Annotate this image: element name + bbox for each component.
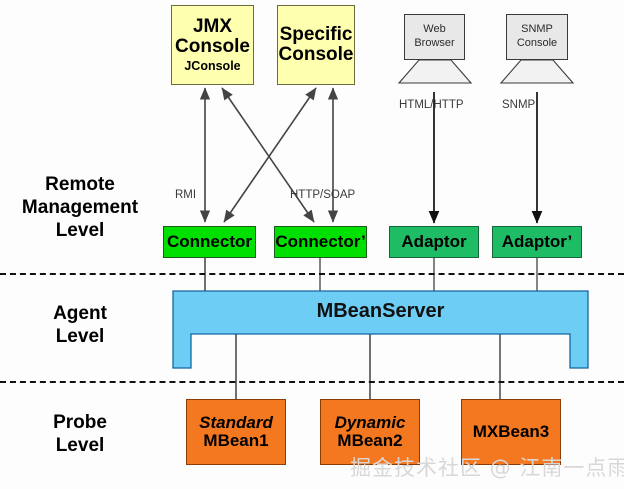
stems-remote-to-mbeanserver xyxy=(205,258,537,292)
stems-mbeanserver-to-mbeans xyxy=(236,334,500,400)
level-remote-line1: Remote xyxy=(0,173,160,196)
level-label-remote-management: Remote Management Level xyxy=(0,173,160,243)
standard-mbean1-box[interactable]: Standard MBean1 xyxy=(186,399,286,465)
level-label-probe: Probe Level xyxy=(0,411,160,457)
html-http-label: HTML/HTTP xyxy=(399,99,464,111)
mxbean3-line1: MXBean3 xyxy=(473,423,550,441)
level-agent-line1: Agent xyxy=(0,302,160,325)
mbeanserver-label: MBeanServer xyxy=(173,300,588,323)
specific-console-line2: Console xyxy=(279,45,354,65)
connector-prime-box[interactable]: Connector’ xyxy=(274,226,367,258)
standard-mbean1-line2: MBean1 xyxy=(203,432,268,450)
level-agent-line2: Level xyxy=(0,325,160,348)
adaptor-box[interactable]: Adaptor xyxy=(389,226,479,258)
jmx-console-line1: JMX xyxy=(193,17,232,37)
level-label-agent: Agent Level xyxy=(0,302,160,348)
web-browser-stand-icon xyxy=(396,59,474,85)
snmp-label: SNMP xyxy=(502,99,535,111)
http-soap-label: HTTP/SOAP xyxy=(290,189,355,201)
jmx-console-subtitle: JConsole xyxy=(184,60,240,73)
dynamic-mbean2-line1: Dynamic xyxy=(335,414,406,432)
snmp-console-line1: SNMP xyxy=(521,23,553,37)
specific-console-line1: Specific xyxy=(280,25,353,45)
arrow-jmxconsole-connectorprime xyxy=(222,88,314,222)
adaptor-prime-box[interactable]: Adaptor’ xyxy=(492,226,582,258)
jmx-console-box[interactable]: JMX Console JConsole xyxy=(171,5,254,85)
standard-mbean1-line1: Standard xyxy=(199,414,273,432)
connector-box[interactable]: Connector xyxy=(163,226,256,258)
jmx-console-line2: Console xyxy=(175,37,250,57)
snmp-console-stand-icon xyxy=(498,59,576,85)
arrow-specificconsole-connector xyxy=(224,88,316,222)
divider-remote-agent xyxy=(0,273,624,275)
watermark-text: 掘金技术社区 @ 江南一点雨 xyxy=(350,452,624,482)
adaptor-label: Adaptor xyxy=(401,233,466,251)
adaptor-prime-label: Adaptor’ xyxy=(502,233,573,251)
web-browser-line2: Browser xyxy=(414,37,454,51)
web-browser-screen: Web Browser xyxy=(404,14,465,60)
snmp-console-line2: Console xyxy=(517,37,557,51)
web-browser-line1: Web xyxy=(423,23,445,37)
specific-console-box[interactable]: Specific Console xyxy=(277,5,355,85)
rmi-label: RMI xyxy=(175,189,196,201)
connector-prime-label: Connector’ xyxy=(275,233,365,251)
connector-label: Connector xyxy=(167,233,252,251)
level-probe-line1: Probe xyxy=(0,411,160,434)
snmp-console-screen: SNMP Console xyxy=(506,14,568,60)
level-probe-line2: Level xyxy=(0,434,160,457)
jmx-architecture-diagram: Remote Management Level Agent Level Prob… xyxy=(0,0,624,489)
level-remote-line2: Management xyxy=(0,196,160,219)
divider-agent-probe xyxy=(0,381,624,383)
dynamic-mbean2-line2: MBean2 xyxy=(337,432,402,450)
level-remote-line3: Level xyxy=(0,219,160,242)
